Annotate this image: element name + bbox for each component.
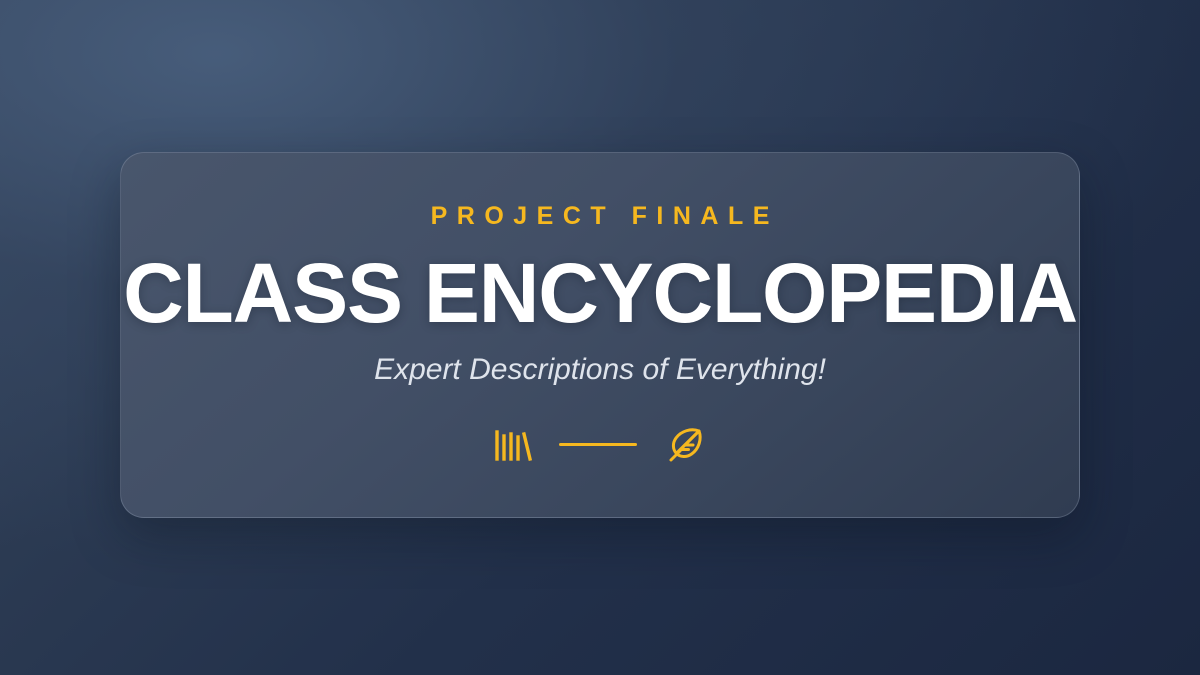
subtitle-text: Expert Descriptions of Everything! [374, 355, 826, 385]
quill-icon [663, 423, 707, 467]
page-title: CLASS ENCYCLOPEDIA [123, 251, 1077, 335]
title-card: PROJECT FINALE CLASS ENCYCLOPEDIA Expert… [120, 152, 1080, 518]
books-icon [493, 426, 533, 464]
divider-rule [559, 443, 637, 446]
ornament-row [493, 423, 707, 467]
slide-canvas: PROJECT FINALE CLASS ENCYCLOPEDIA Expert… [0, 0, 1200, 675]
eyebrow-label: PROJECT FINALE [421, 204, 779, 229]
